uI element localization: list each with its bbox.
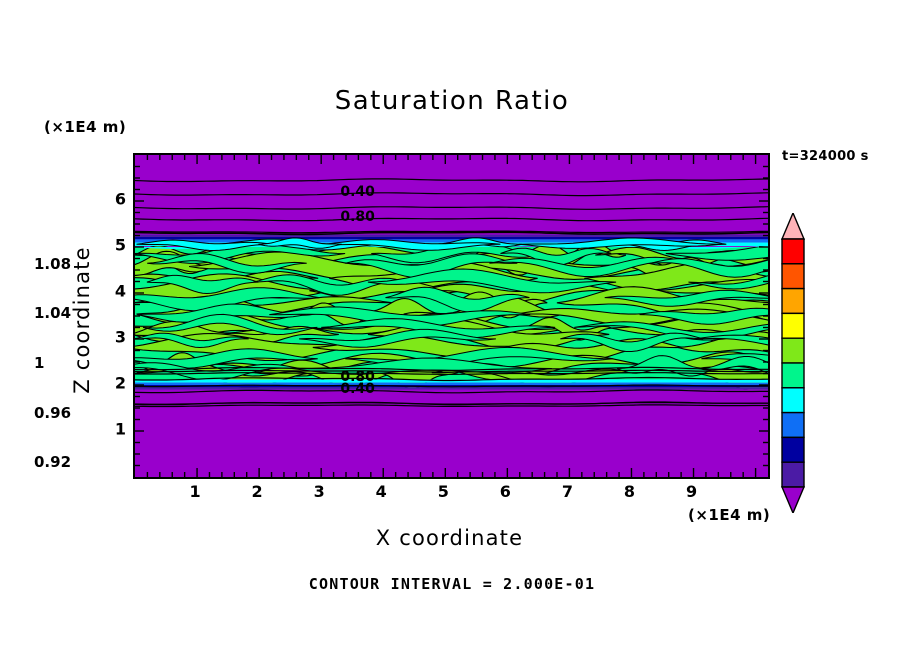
x-tick-label-4: 5 <box>438 482 449 501</box>
page-title: Saturation Ratio <box>0 86 904 116</box>
colorbar-label-4: 0.92 <box>34 453 71 471</box>
y-tick-label-3: 4 <box>98 282 126 301</box>
x-tick-label-0: 1 <box>189 482 200 501</box>
x-tick-label-1: 2 <box>252 482 263 501</box>
y-tick-label-0: 1 <box>98 420 126 439</box>
contour-plot-area <box>133 153 770 479</box>
y-tick-label-1: 2 <box>98 374 126 393</box>
colorbar[interactable] <box>778 213 808 513</box>
colorbar-label-0: 1.08 <box>34 255 71 273</box>
x-tick-label-6: 7 <box>562 482 573 501</box>
time-annotation: t=324000 s <box>782 149 869 164</box>
x-axis-units: (×1E4 m) <box>688 506 770 524</box>
y-axis-units: (×1E4 m) <box>44 118 126 136</box>
x-tick-label-2: 3 <box>314 482 325 501</box>
colorbar-label-3: 0.96 <box>34 404 71 422</box>
x-tick-label-7: 8 <box>624 482 635 501</box>
y-tick-label-2: 3 <box>98 328 126 347</box>
x-tick-label-8: 9 <box>686 482 697 501</box>
colorbar-swatches <box>778 213 808 513</box>
y-tick-label-4: 5 <box>98 236 126 255</box>
x-axis-title: X coordinate <box>133 526 766 550</box>
colorbar-label-1: 1.04 <box>34 304 71 322</box>
contour-label-1: 0.80 <box>340 209 375 225</box>
contour-label-0: 0.40 <box>340 184 375 200</box>
colorbar-label-2: 1 <box>34 354 44 372</box>
contour-label-3: 0.40 <box>340 381 375 397</box>
y-tick-label-5: 6 <box>98 190 126 209</box>
y-axis-title: Z coordinate <box>70 220 94 420</box>
contour-field <box>135 155 768 477</box>
x-tick-label-5: 6 <box>500 482 511 501</box>
contour-interval-note: CONTOUR INTERVAL = 2.000E-01 <box>0 575 904 593</box>
x-tick-label-3: 4 <box>376 482 387 501</box>
